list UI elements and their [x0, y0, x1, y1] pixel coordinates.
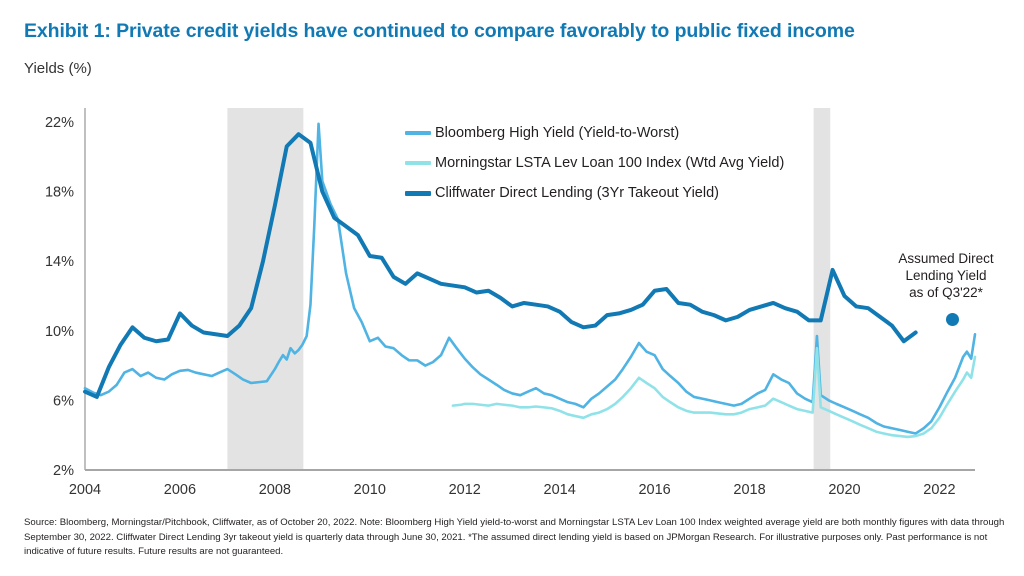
x-tick-label: 2018 — [733, 482, 765, 498]
legend-label-bloomberg-high-yield: Bloomberg High Yield (Yield-to-Worst) — [435, 125, 679, 141]
x-tick-label: 2004 — [69, 482, 101, 498]
y-tick-label: 2% — [53, 463, 74, 479]
series-line-1 — [453, 348, 975, 437]
y-tick-label: 18% — [45, 185, 74, 201]
x-tick-label: 2016 — [638, 482, 670, 498]
x-tick-label: 2008 — [259, 482, 291, 498]
y-tick-label: 22% — [45, 115, 74, 131]
y-tick-label: 14% — [45, 254, 74, 270]
chart-legend: Bloomberg High Yield (Yield-to-Worst) Mo… — [405, 118, 805, 208]
y-tick-label: 10% — [45, 324, 74, 340]
shaded-band-0 — [227, 108, 303, 470]
legend-item-bloomberg-high-yield[interactable]: Bloomberg High Yield (Yield-to-Worst) — [405, 118, 805, 148]
annotation-line-2: Lending Yield — [880, 267, 1012, 284]
legend-label-cliffwater-direct-lending: Cliffwater Direct Lending (3Yr Takeout Y… — [435, 185, 719, 201]
legend-label-morningstar-lsta: Morningstar LSTA Lev Loan 100 Index (Wtd… — [435, 155, 784, 171]
x-tick-label: 2020 — [828, 482, 860, 498]
annotation-line-3: as of Q3'22* — [880, 284, 1012, 301]
page-title: Exhibit 1: Private credit yields have co… — [24, 20, 1004, 43]
y-tick-label: 6% — [53, 393, 74, 409]
legend-swatch-bloomberg-high-yield — [405, 131, 431, 135]
x-tick-label: 2012 — [449, 482, 481, 498]
legend-item-morningstar-lsta[interactable]: Morningstar LSTA Lev Loan 100 Index (Wtd… — [405, 148, 805, 178]
legend-swatch-morningstar-lsta — [405, 161, 431, 165]
x-tick-label: 2010 — [354, 482, 386, 498]
legend-swatch-cliffwater-direct-lending — [405, 191, 431, 196]
legend-item-cliffwater-direct-lending[interactable]: Cliffwater Direct Lending (3Yr Takeout Y… — [405, 178, 805, 208]
assumed-yield-annotation: Assumed Direct Lending Yield as of Q3'22… — [880, 250, 1012, 301]
x-tick-label: 2014 — [544, 482, 576, 498]
annotation-line-1: Assumed Direct — [880, 250, 1012, 267]
assumed-yield-dot — [946, 313, 959, 326]
footnote-source-note: Source: Bloomberg, Morningstar/Pitchbook… — [24, 516, 1008, 560]
y-axis-caption: Yields (%) — [24, 60, 92, 77]
x-tick-label: 2022 — [923, 482, 955, 498]
x-tick-label: 2006 — [164, 482, 196, 498]
